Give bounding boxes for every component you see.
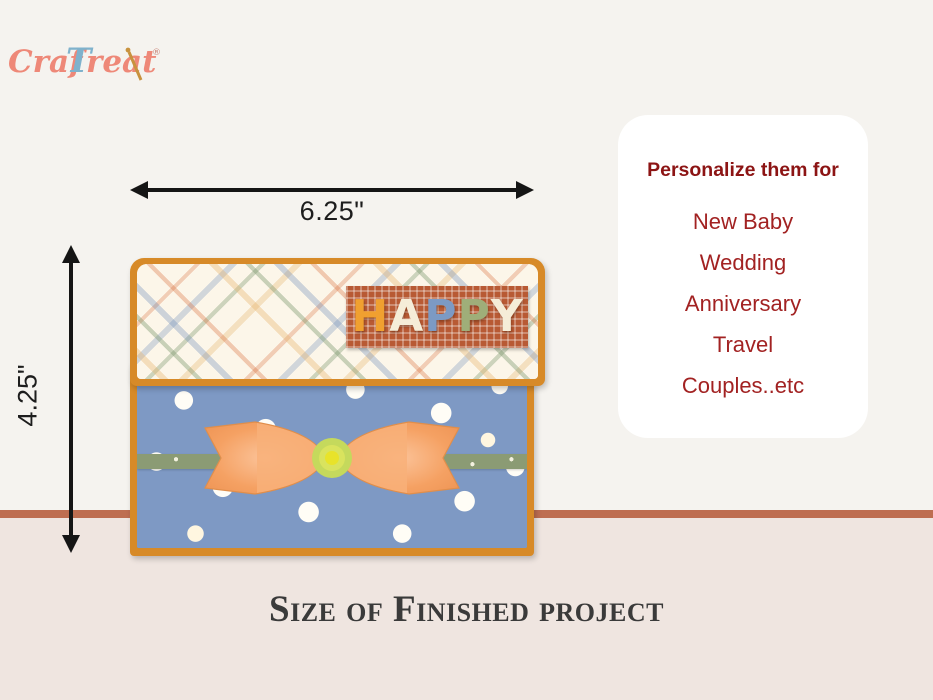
bow-center-flower — [312, 438, 352, 478]
happy-letter-y: Y — [491, 295, 523, 339]
happy-letter-h: H — [351, 295, 388, 339]
envelope-flap: H A P P Y — [130, 258, 545, 386]
footer-title: Size of Finished project — [0, 588, 933, 631]
poster-canvas: Craf T reat ® 6.25" 4.25" — [0, 0, 933, 700]
brush-tip-icon — [126, 48, 131, 53]
list-item: Travel — [618, 334, 868, 356]
envelope-body-inner — [137, 368, 527, 548]
personalize-card-title: Personalize them for — [618, 159, 868, 182]
logo-text-reat: reat — [86, 44, 157, 80]
arrow-head-left-icon — [130, 181, 148, 199]
list-item: Wedding — [618, 252, 868, 274]
happy-word: H A P P Y — [351, 295, 522, 339]
happy-gingham-tag: H A P P Y — [346, 286, 528, 348]
width-dimension-label: 6.25" — [252, 196, 412, 227]
product-envelope-photo: H A P P Y — [118, 250, 542, 562]
arrow-head-down-icon — [62, 535, 80, 553]
list-item: Couples..etc — [618, 375, 868, 397]
arrow-head-right-icon — [516, 181, 534, 199]
personalize-card: Personalize them for New Baby Wedding An… — [618, 115, 868, 438]
list-item: New Baby — [618, 211, 868, 233]
happy-letter-p1: P — [424, 295, 456, 339]
logo-trademark: ® — [152, 48, 161, 58]
happy-letter-a: A — [389, 295, 423, 339]
happy-letter-p2: P — [458, 295, 490, 339]
craftreat-logo: Craf T reat ® — [8, 38, 178, 86]
list-item: Anniversary — [618, 293, 868, 315]
paper-bow — [197, 412, 467, 504]
envelope-body — [130, 362, 534, 556]
height-dimension-arrow — [58, 243, 84, 555]
personalize-card-list: New Baby Wedding Anniversary Travel Coup… — [618, 211, 868, 397]
height-dimension-label: 4.25" — [13, 336, 44, 456]
envelope-flap-inner: H A P P Y — [137, 264, 538, 379]
arrow-head-up-icon — [62, 245, 80, 263]
